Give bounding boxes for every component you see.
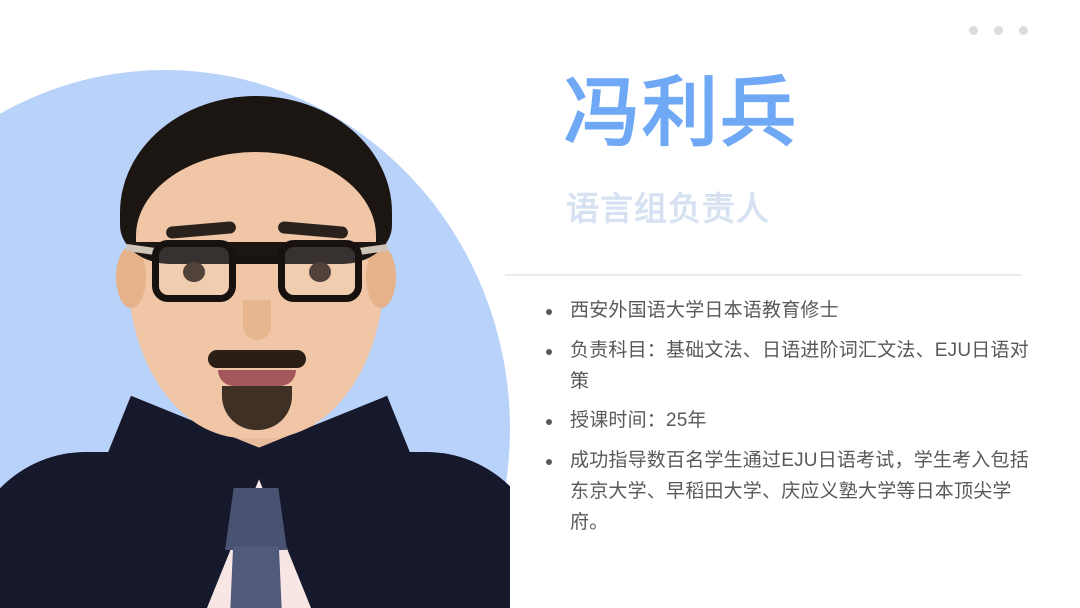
portrait-tie-body xyxy=(230,546,282,608)
credentials-list: 西安外国语大学日本语教育修士 负责科目：基础文法、日语进阶词汇文法、EJU日语对… xyxy=(536,296,1030,547)
person-title: 语言组负责人 xyxy=(566,192,770,225)
list-item: 授课时间：25年 xyxy=(536,406,1030,437)
portrait-nose xyxy=(243,300,271,340)
list-item: 成功指导数百名学生通过EJU日语考试，学生考入包括东京大学、早稻田大学、庆应义塾… xyxy=(536,446,1030,538)
portrait-mouth xyxy=(218,370,296,386)
portrait-mustache xyxy=(208,350,306,368)
profile-slide: 冯利兵 语言组负责人 西安外国语大学日本语教育修士 负责科目：基础文法、日语进阶… xyxy=(0,0,1080,608)
glasses-lens-right-icon xyxy=(278,240,362,302)
list-item: 西安外国语大学日本语教育修士 xyxy=(536,296,1030,327)
portrait-tie-knot xyxy=(225,488,287,550)
glasses-lens-left-icon xyxy=(152,240,236,302)
person-name: 冯利兵 xyxy=(564,76,798,152)
glasses-bridge-icon xyxy=(234,256,280,263)
portrait-photo xyxy=(0,0,510,608)
list-item: 负责科目：基础文法、日语进阶词汇文法、EJU日语对策 xyxy=(536,336,1030,398)
portrait-panel xyxy=(0,0,512,608)
profile-content: 冯利兵 语言组负责人 西安外国语大学日本语教育修士 负责科目：基础文法、日语进阶… xyxy=(564,0,1034,608)
section-divider xyxy=(505,274,1021,276)
